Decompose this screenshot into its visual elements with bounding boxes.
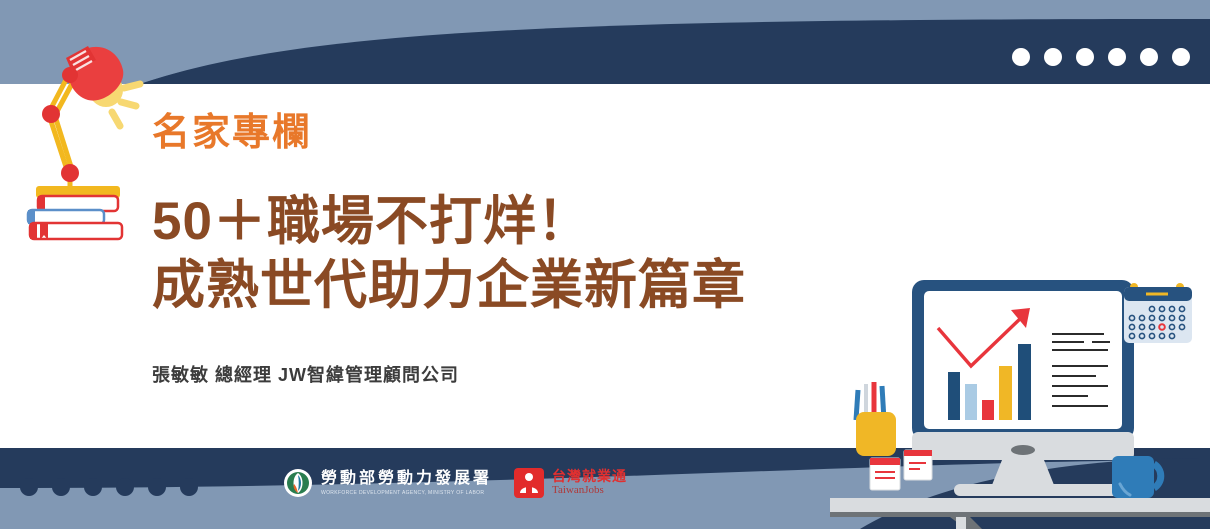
footer-dot — [180, 478, 198, 496]
taiwanjobs-name-zh: 台灣就業通 — [552, 469, 627, 484]
header-dot — [1140, 48, 1158, 66]
mol-name-zh: 勞動部勞動力發展署 — [321, 470, 492, 488]
headline-block: 名家專欄 50＋職場不打烊！ 成熟世代助力企業新篇章 張敏敏 總經理 JW智緯管… — [152, 112, 912, 387]
footer-dot — [84, 478, 102, 496]
mol-logo: 勞動部勞動力發展署 WORKFORCE DEVELOPMENT AGENCY, … — [283, 468, 492, 498]
column-label: 名家專欄 — [152, 112, 912, 156]
desk-lamp-icon — [8, 18, 148, 258]
author-byline: 張敏敏 總經理 JW智緯管理顧問公司 — [152, 361, 912, 387]
header-dot — [1012, 48, 1030, 66]
footer-dot — [52, 478, 70, 496]
header-dot — [1076, 48, 1094, 66]
footer-dot — [116, 478, 134, 496]
footer-dot — [20, 478, 38, 496]
header-dot — [1108, 48, 1126, 66]
headline-line-2: 成熟世代助力企業新篇章 — [152, 254, 912, 319]
header-dot-row — [1012, 48, 1190, 66]
footer-logo-row: 勞動部勞動力發展署 WORKFORCE DEVELOPMENT AGENCY, … — [283, 468, 627, 498]
taiwanjobs-person-icon — [514, 468, 544, 498]
footer-dot — [148, 478, 166, 496]
taiwanjobs-logo: 台灣就業通 TaiwanJobs — [514, 468, 627, 498]
mol-emblem-icon — [283, 468, 313, 498]
taiwanjobs-name-en: TaiwanJobs — [552, 484, 627, 497]
header-dot — [1044, 48, 1062, 66]
article-banner: 名家專欄 50＋職場不打烊！ 成熟世代助力企業新篇章 張敏敏 總經理 JW智緯管… — [0, 0, 1210, 529]
footer-dot-row — [20, 478, 198, 496]
header-dot — [1172, 48, 1190, 66]
headline-line-1: 50＋職場不打烊！ — [152, 192, 591, 251]
calendar-icon — [1118, 277, 1198, 349]
mol-name-en: WORKFORCE DEVELOPMENT AGENCY, MINISTRY O… — [321, 490, 492, 497]
page-title: 50＋職場不打烊！ 成熟世代助力企業新篇章 — [152, 190, 912, 319]
